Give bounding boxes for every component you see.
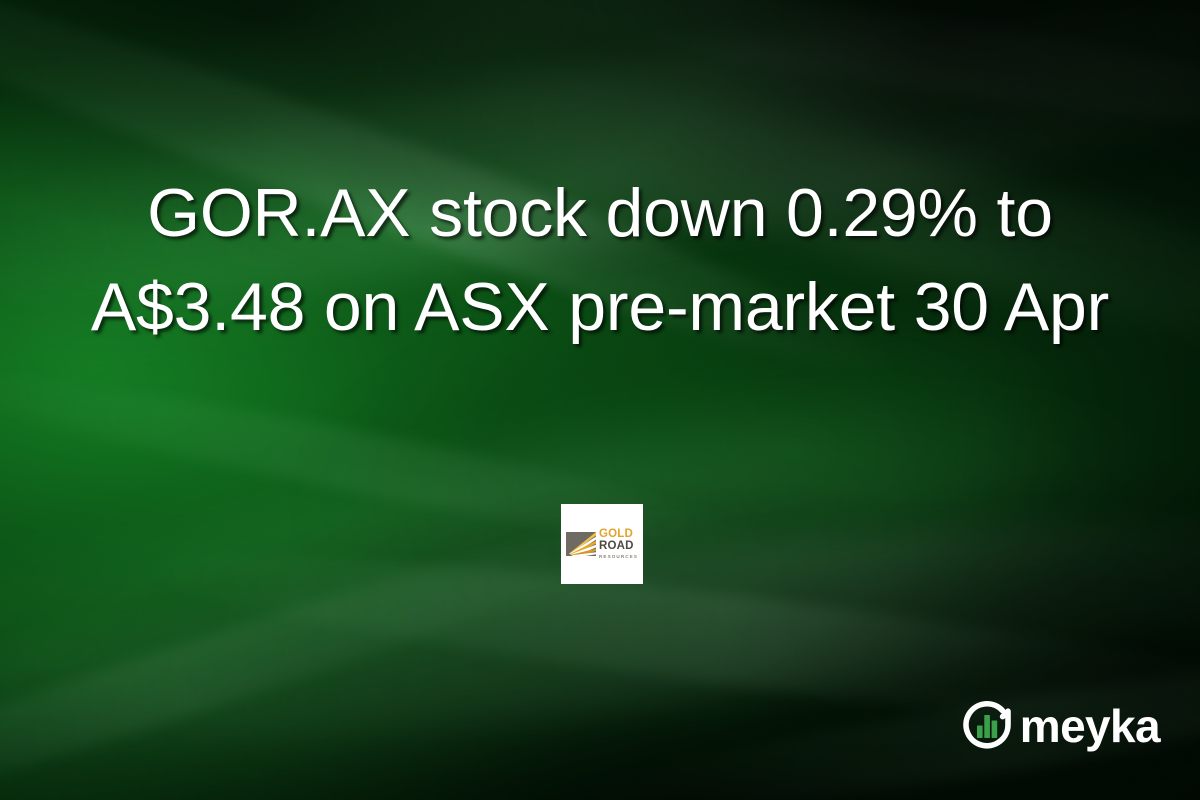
logo-word-road: ROAD xyxy=(599,541,638,553)
headline-text: GOR.AX stock down 0.29% to A$3.48 on ASX… xyxy=(60,166,1140,354)
gold-road-rays-icon xyxy=(566,532,596,556)
brand-lockup: meyka xyxy=(958,697,1160,755)
logo-word-resources: RESOURCES xyxy=(599,555,638,560)
logo-word-gold: GOLD xyxy=(599,529,638,541)
company-logo-card: GOLD ROAD RESOURCES xyxy=(561,504,643,584)
social-share-card: GOR.AX stock down 0.29% to A$3.48 on ASX… xyxy=(0,0,1200,800)
brand-name-text: meyka xyxy=(1020,703,1160,749)
meyka-bar-chart-ring-icon xyxy=(958,697,1016,755)
company-logo-inner: GOLD ROAD RESOURCES xyxy=(566,529,638,560)
company-logo-wordmark: GOLD ROAD RESOURCES xyxy=(599,529,638,560)
